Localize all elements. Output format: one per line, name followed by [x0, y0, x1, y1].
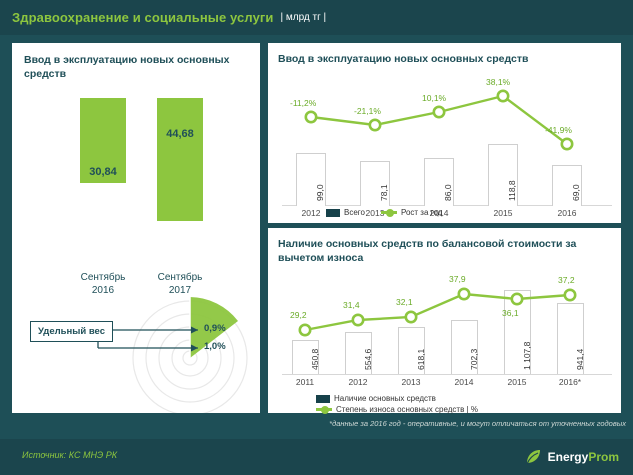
donut-area: Удельный вес 0,9% 1,0% [12, 286, 260, 413]
line-swatch-icon [316, 408, 332, 411]
right-top-panel: Ввод в эксплуатацию новых основных средс… [268, 43, 621, 223]
left-bar-value-1: 44,68 [135, 128, 225, 140]
rt-point-label-2: 10,1% [422, 93, 446, 103]
rb-point-label-3: 37,9 [449, 274, 466, 284]
rt-point-label-0: -11,2% [290, 98, 316, 108]
rt-point-label-4: -41,9% [545, 125, 572, 135]
rt-point-label-1: -21,1% [354, 106, 381, 116]
rt-category-4: 2016 [542, 208, 592, 218]
donut-value-label-1: 1,0% [204, 341, 226, 352]
source-label: Источник: КС МНЭ РК [22, 450, 117, 460]
rt-legend-item-0: Всего [326, 208, 365, 217]
donut-value-label-0: 0,9% [204, 323, 226, 334]
line-swatch-icon [381, 211, 397, 214]
left-bar-group-1: 44,68 [157, 98, 203, 268]
rb-point-label-4: 36,1 [502, 308, 519, 318]
rb-legend-item-1: Степень износа основных средств | % [316, 405, 478, 414]
right-bottom-legend: Наличие основных средств Степень износа … [316, 394, 478, 414]
rb-category-2: 2013 [387, 377, 435, 387]
left-bar-group-0: 30,84 [80, 98, 126, 268]
rt-category-3: 2015 [478, 208, 528, 218]
rb-legend-label-0: Наличие основных средств [334, 394, 436, 403]
header-bar: Здравоохранение и социальные услуги | мл… [0, 0, 633, 35]
page-title: Здравоохранение и социальные услуги [0, 10, 274, 25]
rt-point-label-3: 38,1% [486, 77, 510, 87]
rb-point-label-1: 31,4 [343, 300, 360, 310]
right-bottom-panel: Наличие основных средств по балансовой с… [268, 228, 621, 413]
rb-category-1: 2012 [334, 377, 382, 387]
leaf-icon [523, 447, 543, 467]
brand-logo: EnergyProm [523, 447, 619, 467]
rb-point-label-5: 37,2 [558, 275, 575, 285]
page-title-unit: | млрд тг | [274, 12, 327, 23]
left-bar-1 [157, 98, 203, 221]
rt-legend-item-1: Рост за год [381, 208, 442, 217]
donut-callout-label: Удельный вес [30, 321, 113, 342]
rt-legend-label-0: Всего [344, 208, 365, 217]
bar-swatch-icon [326, 209, 340, 217]
page-root: Здравоохранение и социальные услуги | мл… [0, 0, 633, 475]
rb-point-label-0: 29,2 [290, 310, 307, 320]
rb-category-5: 2016* [546, 377, 594, 387]
bar-swatch-icon [316, 395, 330, 403]
rb-category-3: 2014 [440, 377, 488, 387]
footnote: *данные за 2016 год - оперативные, и мог… [226, 419, 626, 429]
rb-legend-label-1: Степень износа основных средств | % [336, 405, 478, 414]
right-top-chart: 99,0 78,1 86,0 118,8 69,0 -11,2% -21,1% … [268, 43, 621, 223]
left-panel: Ввод в эксплуатацию новых основных средс… [12, 43, 260, 413]
left-bar-chart: 30,84 44,68 [12, 98, 260, 268]
brand-text-part2: Prom [588, 450, 619, 464]
rb-point-label-2: 32,1 [396, 297, 413, 307]
right-top-legend: Всего Рост за год [326, 208, 442, 217]
rb-category-4: 2015 [493, 377, 541, 387]
brand-text-part1: Energy [548, 450, 589, 464]
rt-legend-label-1: Рост за год [401, 208, 442, 217]
rb-category-0: 2011 [281, 377, 329, 387]
footer-bar: Источник: КС МНЭ РК EnergyProm [0, 439, 633, 475]
left-bar-value-0: 30,84 [58, 166, 148, 178]
right-bottom-chart: 450,8 554,6 618,1 702,3 1 107,8 941,4 29… [268, 228, 621, 413]
brand-text: EnergyProm [548, 450, 619, 464]
left-bar-category-1-line1: Сентябрь [125, 271, 235, 284]
left-panel-title: Ввод в эксплуатацию новых основных средс… [12, 43, 260, 81]
rb-legend-item-0: Наличие основных средств [316, 394, 478, 403]
